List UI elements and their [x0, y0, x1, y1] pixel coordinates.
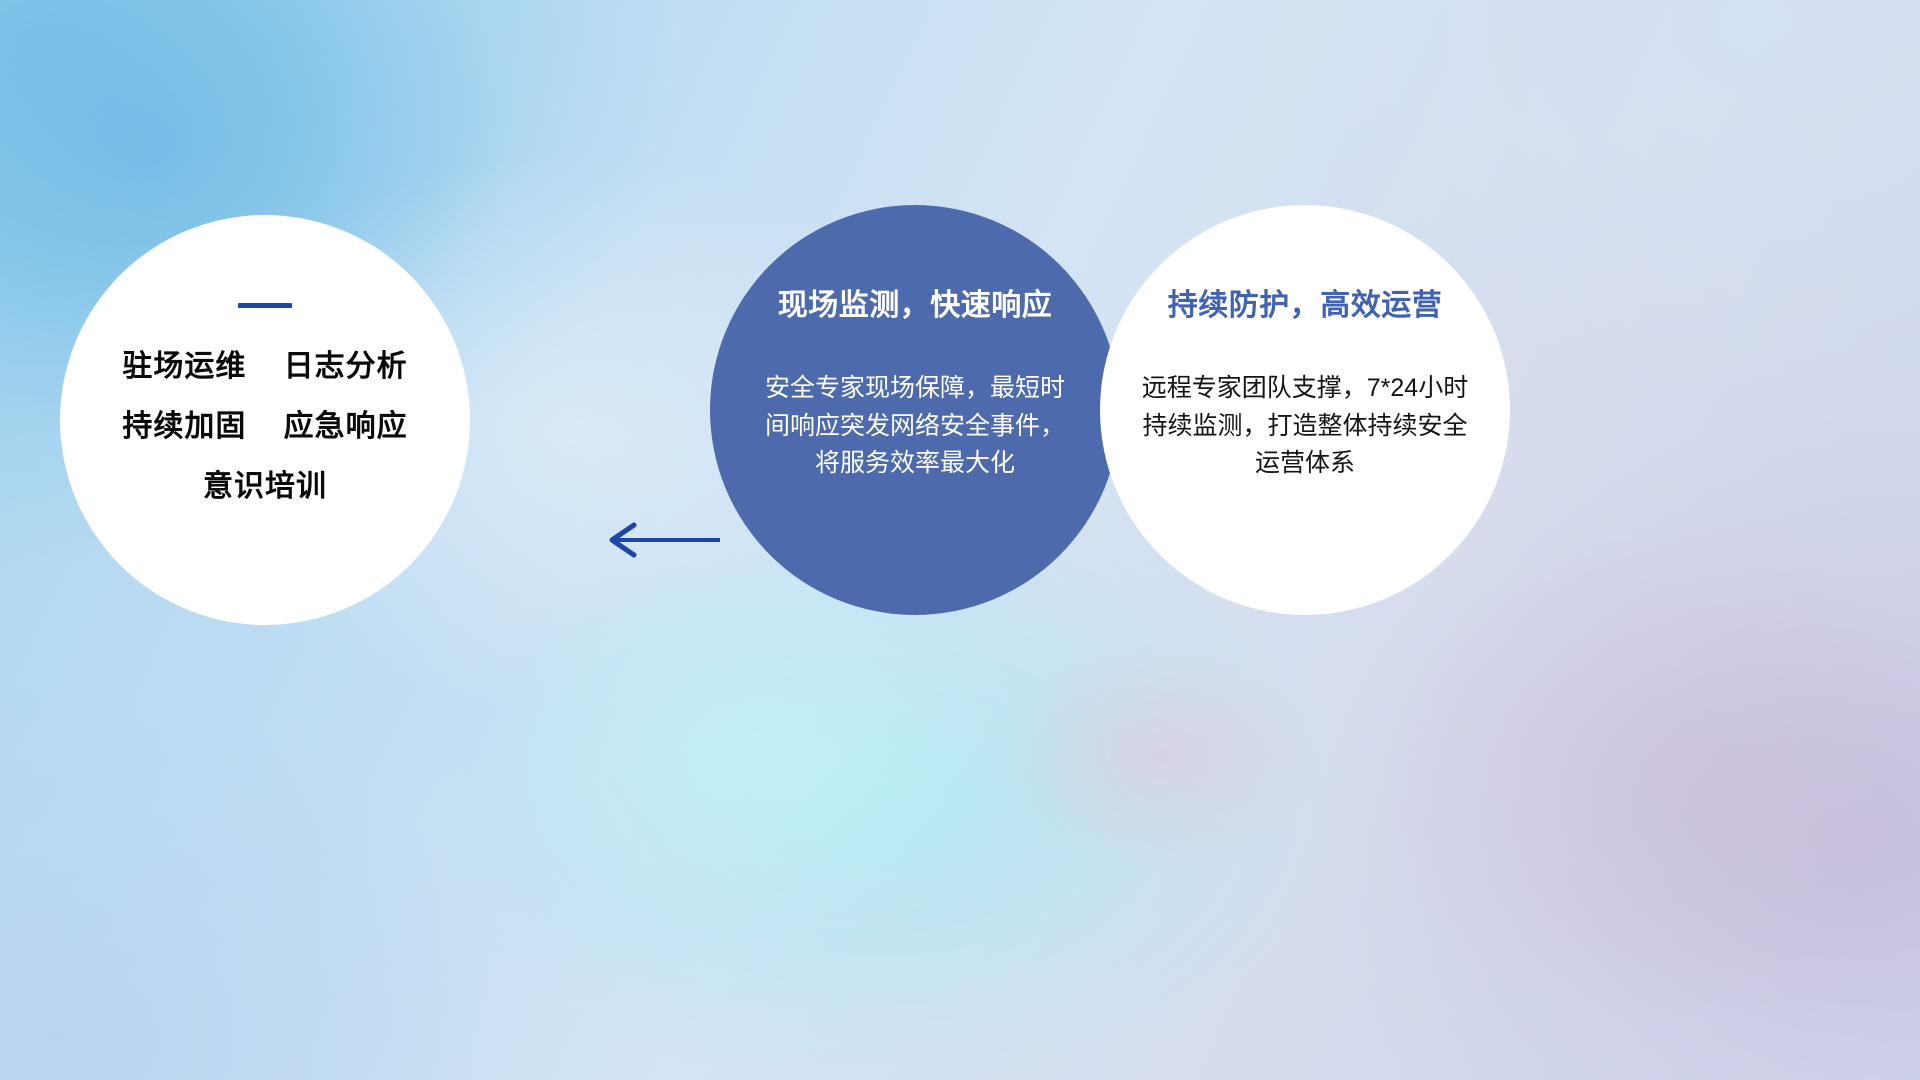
slide-canvas: 驻场运维 日志分析 持续加固 应急响应 意识培训 现场监测，快速响应 安全专家现…	[0, 0, 1920, 1080]
continuous-protection-body: 远程专家团队支撑，7*24小时持续监测，打造整体持续安全运营体系	[1135, 370, 1475, 483]
capabilities-content: 驻场运维 日志分析 持续加固 应急响应 意识培训	[60, 215, 470, 625]
continuous-protection-title: 持续防护，高效运营	[1168, 289, 1443, 322]
onsite-monitoring-content: 现场监测，快速响应 安全专家现场保障，最短时间响应突发网络安全事件，将服务效率最…	[710, 205, 1120, 615]
capability-line-2: 持续加固 应急响应	[122, 412, 407, 442]
capability-line-3: 意识培训	[203, 472, 327, 502]
divider-dash	[238, 303, 292, 308]
capability-line-1: 驻场运维 日志分析	[122, 352, 407, 382]
onsite-monitoring-body: 安全专家现场保障，最短时间响应突发网络安全事件，将服务效率最大化	[765, 370, 1065, 483]
continuous-protection-content: 持续防护，高效运营 远程专家团队支撑，7*24小时持续监测，打造整体持续安全运营…	[1100, 205, 1510, 615]
left-arrow-icon	[600, 515, 720, 565]
onsite-monitoring-title: 现场监测，快速响应	[778, 289, 1053, 322]
